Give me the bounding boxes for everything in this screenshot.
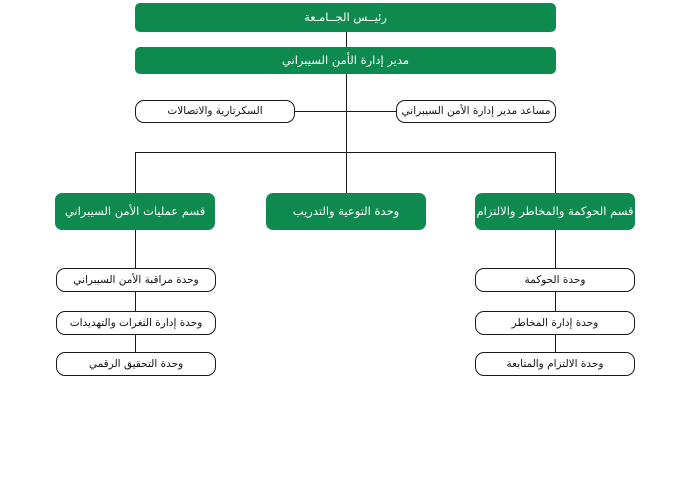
node-governance-risk-compliance-department[interactable]: قسم الحوكمة والمخاطر والالتزام [475,193,635,230]
connector-bus-to-ops [135,152,136,193]
connector-ops-to-monitoring [135,230,136,268]
connector-monitoring-to-vulnerability [135,292,136,311]
connector-president-to-director [346,32,347,47]
connector-governance-to-governance-unit [555,230,556,268]
node-president[interactable]: رئيــس الجــامـعة [135,3,556,32]
connector-vulnerability-to-forensics [135,335,136,352]
connector-director-trunk [346,74,347,152]
connector-staff-right [346,111,396,112]
node-vulnerability-threat-management-unit[interactable]: وحدة إدارة الثغرات والتهديدات [56,311,216,335]
connector-risk-to-compliance [555,335,556,352]
connector-bus-to-awareness [346,152,347,193]
connector-bus-to-governance [555,152,556,193]
node-governance-unit[interactable]: وحدة الحوكمة [475,268,635,292]
org-chart: رئيــس الجــامـعة مدير إدارة الأمن السيب… [0,0,697,480]
node-cyber-monitoring-unit[interactable]: وحدة مراقبة الأمن السيبراني [56,268,216,292]
node-awareness-training-unit[interactable]: وحدة التوعية والتدريب [266,193,426,230]
node-cybersecurity-director[interactable]: مدير إدارة الأمن السيبراني [135,47,556,74]
node-assistant-director[interactable]: مساعد مدير إدارة الأمن السيبراني [396,100,556,123]
node-risk-management-unit[interactable]: وحدة إدارة المخاطر [475,311,635,335]
node-compliance-followup-unit[interactable]: وحدة الالتزام والمتابعة [475,352,635,376]
node-secretariat-communications[interactable]: السكرتارية والاتصالات [135,100,295,123]
node-cyber-operations-department[interactable]: قسم عمليات الأمن السيبراني [55,193,215,230]
connector-staff-left [295,111,347,112]
connector-governance-unit-to-risk [555,292,556,311]
node-digital-forensics-unit[interactable]: وحدة التحقيق الرقمي [56,352,216,376]
